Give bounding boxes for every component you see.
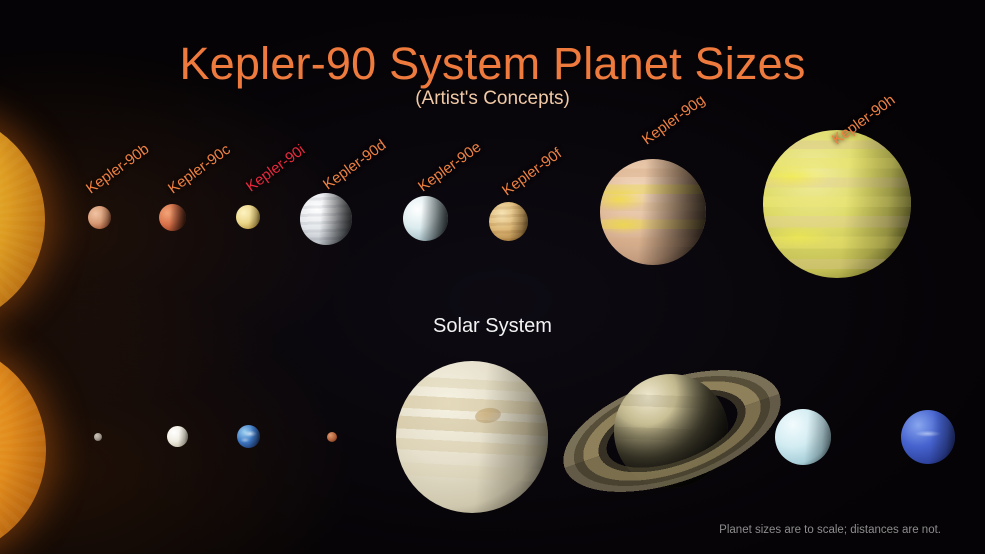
planet-kepler-90g bbox=[600, 159, 706, 265]
terminator-shadow bbox=[236, 205, 260, 229]
planet-kepler-90b bbox=[88, 206, 111, 229]
terminator-shadow bbox=[167, 426, 188, 447]
solar-system-label: Solar System bbox=[0, 315, 985, 338]
page-title: Kepler-90 System Planet Sizes bbox=[0, 38, 985, 90]
label-kepler-90e: Kepler-90e bbox=[415, 138, 484, 195]
planet-kepler-90d bbox=[300, 193, 352, 245]
star-granulation bbox=[0, 342, 46, 554]
star-granulation bbox=[0, 112, 45, 327]
star-kepler-90 bbox=[0, 112, 45, 327]
planet-earth bbox=[237, 425, 260, 448]
planet-kepler-90h bbox=[763, 130, 911, 278]
label-kepler-90i: Kepler-90i bbox=[243, 141, 308, 195]
planet-kepler-90i bbox=[236, 205, 260, 229]
planet-kepler-90c bbox=[159, 204, 186, 231]
planet-kepler-90f bbox=[489, 202, 528, 241]
terminator-shadow bbox=[600, 159, 706, 265]
planet-mercury bbox=[94, 433, 102, 441]
terminator-shadow bbox=[300, 193, 352, 245]
label-kepler-90f: Kepler-90f bbox=[499, 145, 565, 199]
terminator-shadow bbox=[88, 206, 111, 229]
terminator-shadow bbox=[775, 409, 831, 465]
planet-kepler-90e bbox=[403, 196, 448, 241]
star-sun bbox=[0, 342, 46, 554]
planet-neptune bbox=[901, 410, 955, 464]
terminator-shadow bbox=[901, 410, 955, 464]
planet-saturn bbox=[614, 374, 728, 488]
label-kepler-90d: Kepler-90d bbox=[320, 136, 389, 193]
planet-venus bbox=[167, 426, 188, 447]
page-subtitle: (Artist's Concepts) bbox=[0, 88, 985, 110]
terminator-shadow bbox=[489, 202, 528, 241]
infographic-canvas: Kepler-90 System Planet Sizes (Artist's … bbox=[0, 0, 985, 554]
planet-jupiter bbox=[396, 361, 548, 513]
label-kepler-90b: Kepler-90b bbox=[83, 140, 152, 197]
planet-uranus bbox=[775, 409, 831, 465]
planet-mars bbox=[327, 432, 337, 442]
planet-saturn-group bbox=[548, 358, 796, 504]
terminator-shadow bbox=[159, 204, 186, 231]
terminator-shadow bbox=[403, 196, 448, 241]
terminator-shadow bbox=[396, 361, 548, 513]
label-kepler-90c: Kepler-90c bbox=[165, 141, 234, 197]
terminator-shadow bbox=[763, 130, 911, 278]
terminator-shadow bbox=[614, 374, 728, 488]
terminator-shadow bbox=[237, 425, 260, 448]
scale-footnote: Planet sizes are to scale; distances are… bbox=[719, 524, 941, 536]
